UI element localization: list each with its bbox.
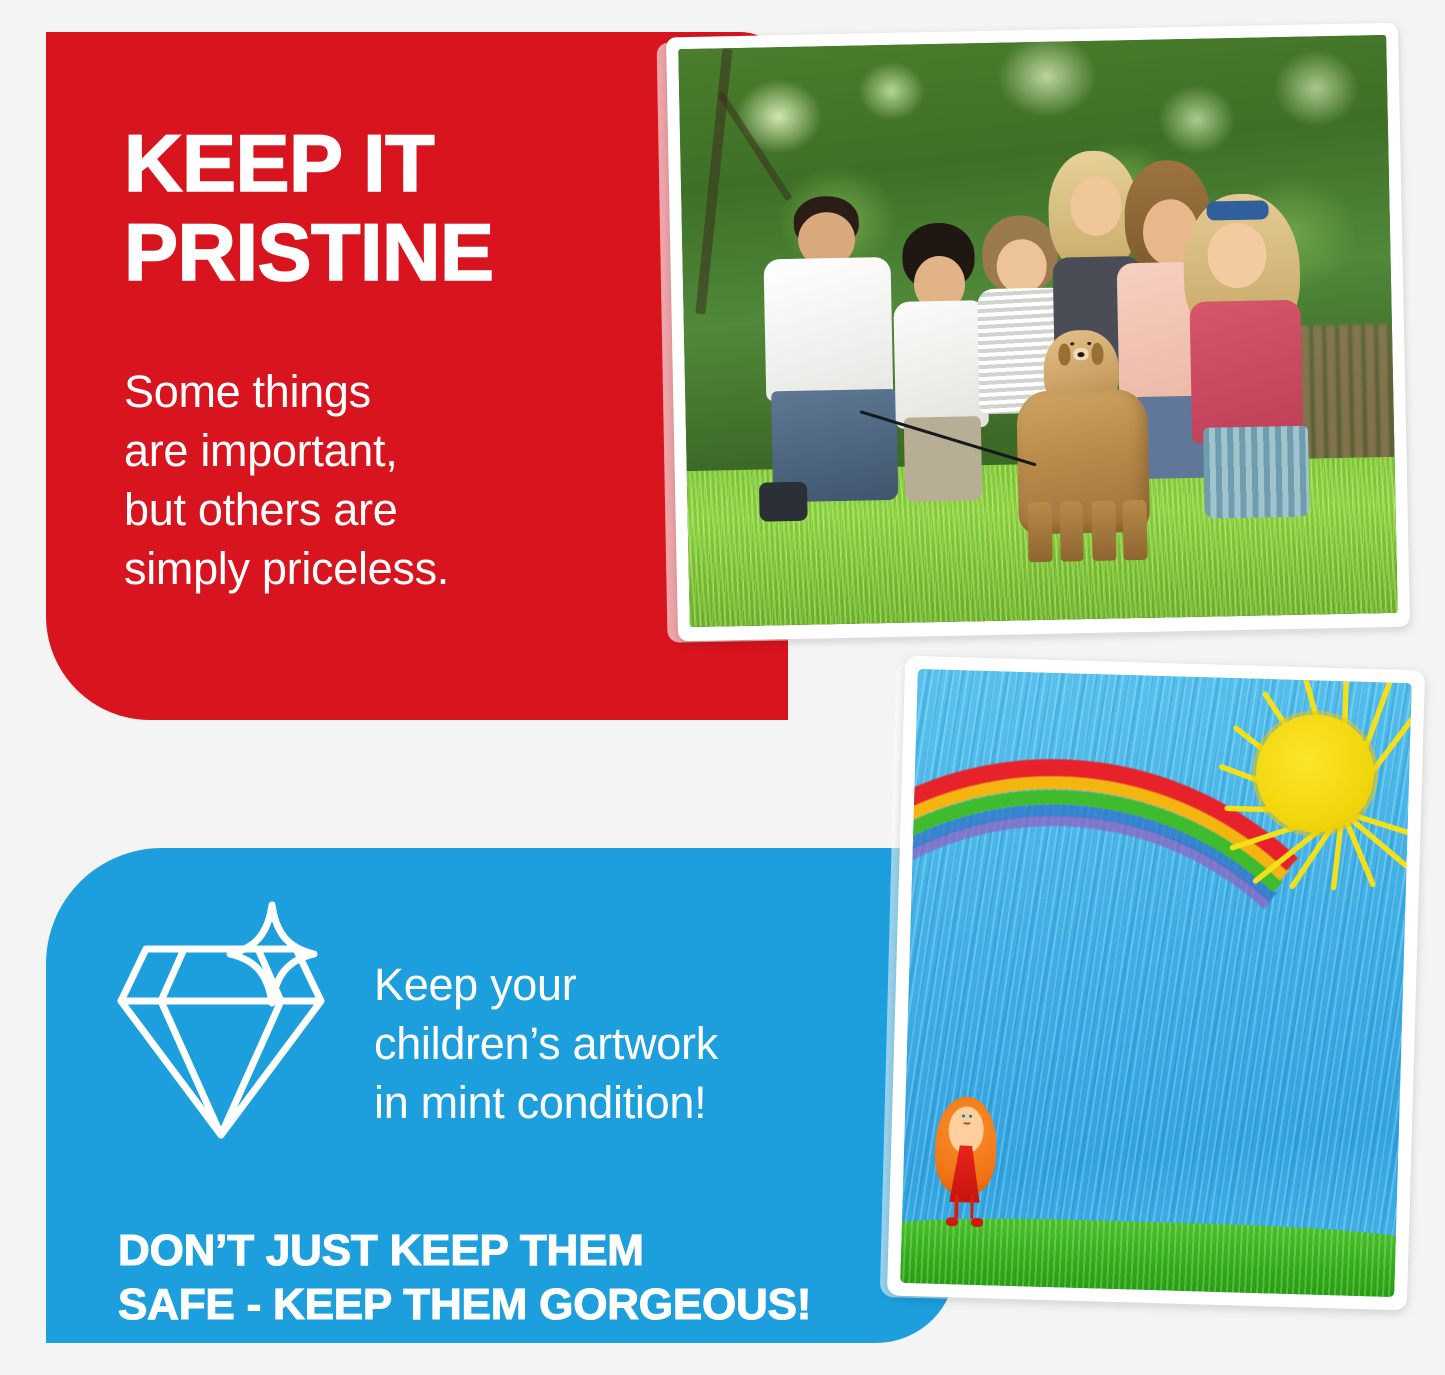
red-body-line-1: Some things: [124, 362, 644, 421]
childs-rainbow-crayon-drawing: [887, 656, 1425, 1311]
figure-foot-left: [946, 1217, 959, 1227]
blue-body-line-1: Keep your: [374, 955, 874, 1014]
father-shoe: [759, 482, 808, 522]
blue-panel-caption: DON’T JUST KEEP THEM SAFE - KEEP THEM GO…: [118, 1224, 918, 1332]
dog-leg-back-left: [1092, 501, 1117, 562]
blue-panel-body: Keep your children’s artwork in mint con…: [374, 955, 874, 1132]
blue-caption-line-2: SAFE - KEEP THEM GORGEOUS!: [118, 1278, 918, 1332]
blue-body-line-2: children’s artwork: [374, 1014, 874, 1073]
crayon-girl-figure: [929, 1093, 1002, 1230]
dog-leg-front-left: [1028, 502, 1053, 563]
red-body-line-4: simply priceless.: [124, 539, 644, 598]
red-heading-line-2: PRISTINE: [124, 209, 684, 298]
red-body-line-2: are important,: [124, 421, 644, 480]
girl-pink-dress: [1190, 300, 1303, 445]
figure-foot-right: [971, 1217, 984, 1227]
figure-smile: [962, 1120, 970, 1125]
person-father: [759, 195, 907, 521]
red-panel-heading: KEEP IT PRISTINE: [124, 120, 684, 298]
figure-eye-right: [969, 1115, 972, 1118]
red-panel-body: Some things are important, but others ar…: [124, 362, 644, 598]
diamond-sparkle-icon: [106, 893, 336, 1143]
figure-leg-right: [970, 1194, 974, 1218]
girl-pink-plaid-pants: [1203, 426, 1310, 519]
father-shirt: [763, 257, 893, 402]
photo-image: [678, 35, 1397, 627]
person-girl-pink: [1177, 193, 1318, 519]
dog-leg-back-right: [1123, 500, 1148, 561]
golden-retriever-dog: [1003, 329, 1163, 563]
family-washing-dog-photo: [666, 23, 1410, 642]
dog-eye-left: [1070, 342, 1074, 345]
red-body-line-3: but others are: [124, 480, 644, 539]
girl-pink-headband: [1207, 200, 1269, 221]
blue-caption-line-1: DON’T JUST KEEP THEM: [118, 1224, 918, 1278]
dog-leg-front-right: [1059, 501, 1084, 562]
blue-body-line-3: in mint condition!: [374, 1073, 874, 1132]
dog-ear-right: [1091, 343, 1103, 365]
figure-eye-left: [962, 1115, 965, 1118]
drawing-image: [900, 669, 1411, 1297]
infographic-canvas: KEEP IT PRISTINE Some things are importa…: [0, 0, 1445, 1375]
red-heading-line-1: KEEP IT: [124, 120, 684, 209]
dog-eye-right: [1087, 342, 1091, 345]
dog-ear-left: [1058, 344, 1070, 366]
figure-leg-left: [954, 1194, 958, 1218]
